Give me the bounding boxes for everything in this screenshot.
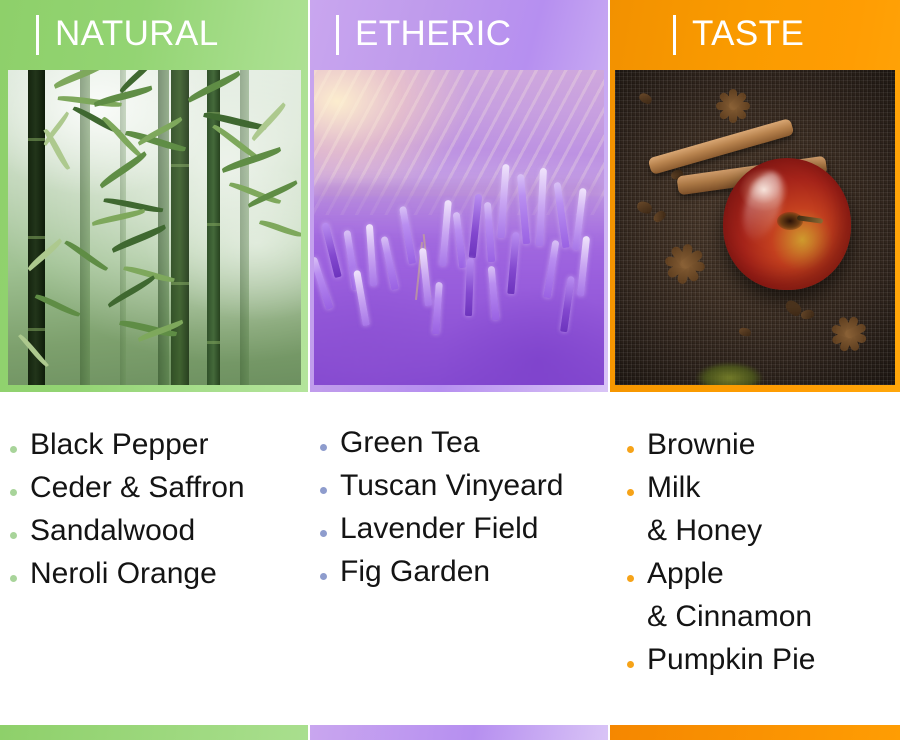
- bullet-dot-icon: [10, 489, 17, 496]
- bamboo-stalk: [28, 70, 45, 385]
- panel-title-taste: TASTE: [692, 16, 804, 51]
- list-item[interactable]: Lavender Field: [320, 514, 608, 544]
- bullet-dot-icon: [320, 444, 327, 451]
- category-panel-natural[interactable]: NATURAL: [0, 0, 308, 392]
- title-rule-icon: [673, 15, 676, 55]
- title-rule-icon: [36, 15, 39, 55]
- panel-row: NATURAL: [0, 0, 900, 392]
- list-item-label: Neroli Orange: [30, 559, 217, 589]
- panel-header-etheric: ETHERIC: [310, 0, 608, 70]
- list-item-label: Fig Garden: [340, 557, 490, 587]
- panel-title-etheric: ETHERIC: [355, 16, 511, 51]
- lavender-scene: [314, 70, 604, 385]
- list-item-label: Milk: [647, 473, 700, 503]
- list-item-label: Brownie: [647, 430, 755, 460]
- slide-canvas: NATURAL: [0, 0, 900, 740]
- list-item[interactable]: Brownie: [627, 430, 900, 460]
- list-item-sublabel: & Cinnamon: [647, 602, 900, 632]
- list-item-label: Ceder & Saffron: [30, 473, 245, 503]
- lavender-field-photo: [314, 70, 604, 385]
- list-item-sublabel: & Honey: [647, 516, 900, 546]
- bullet-dot-icon: [320, 487, 327, 494]
- bullet-dot-icon: [10, 575, 17, 582]
- star-anise-icon: [711, 84, 755, 128]
- list-item-label: Pumpkin Pie: [647, 645, 815, 675]
- red-apple: [723, 158, 851, 290]
- ingredient-list-taste: Brownie Milk & Honey Apple & Cinnamon Pu…: [610, 392, 900, 675]
- bullet-dot-icon: [10, 446, 17, 453]
- bullet-dot-icon: [320, 530, 327, 537]
- list-item-label: Black Pepper: [30, 430, 208, 460]
- list-item[interactable]: Tuscan Vinyeard: [320, 471, 608, 501]
- list-item-label: Tuscan Vinyeard: [340, 471, 563, 501]
- list-item[interactable]: Fig Garden: [320, 557, 608, 587]
- bamboo-forest-photo: [8, 70, 301, 385]
- list-item-label: Green Tea: [340, 428, 480, 458]
- list-item[interactable]: Green Tea: [320, 428, 608, 458]
- panel-header-natural: NATURAL: [0, 0, 308, 70]
- bullet-dot-icon: [627, 489, 634, 496]
- apple-scene: [615, 70, 895, 385]
- bullet-dot-icon: [627, 446, 634, 453]
- bottom-strip-etheric: [310, 725, 608, 740]
- ingredient-list-natural: Black Pepper Ceder & Saffron Sandalwood …: [0, 392, 308, 589]
- bamboo-stalk: [120, 70, 126, 385]
- panel-title-natural: NATURAL: [55, 16, 219, 51]
- bullet-dot-icon: [320, 573, 327, 580]
- bullet-dot-icon: [627, 661, 634, 668]
- list-item-label: Apple: [647, 559, 724, 589]
- category-panel-etheric[interactable]: ETHERIC: [310, 0, 608, 392]
- star-anise-icon: [659, 238, 711, 290]
- bottom-strip-taste: [610, 725, 900, 740]
- bottom-strip-natural: [0, 725, 308, 740]
- ingredient-list-etheric: Green Tea Tuscan Vinyeard Lavender Field…: [310, 392, 608, 587]
- bamboo-stalk: [240, 70, 249, 385]
- panel-header-taste: TASTE: [610, 0, 900, 70]
- apple-cinnamon-photo: [615, 70, 895, 385]
- list-item[interactable]: Pumpkin Pie: [627, 645, 900, 675]
- list-item[interactable]: Ceder & Saffron: [10, 473, 308, 503]
- star-anise-icon: [826, 311, 873, 358]
- title-rule-icon: [336, 15, 339, 55]
- list-item[interactable]: Neroli Orange: [10, 559, 308, 589]
- bottom-color-strip: [0, 725, 900, 740]
- bullet-dot-icon: [10, 532, 17, 539]
- list-item[interactable]: Sandalwood: [10, 516, 308, 546]
- list-item-label: Sandalwood: [30, 516, 195, 546]
- list-item[interactable]: Apple & Cinnamon: [627, 559, 900, 632]
- bullet-dot-icon: [627, 575, 634, 582]
- list-item[interactable]: Milk & Honey: [627, 473, 900, 546]
- green-leaf-fragment: [695, 361, 781, 385]
- list-item[interactable]: Black Pepper: [10, 430, 308, 460]
- ingredient-lists: Black Pepper Ceder & Saffron Sandalwood …: [0, 392, 900, 722]
- bamboo-scene: [8, 70, 301, 385]
- list-item-label: Lavender Field: [340, 514, 538, 544]
- category-panel-taste[interactable]: TASTE: [610, 0, 900, 392]
